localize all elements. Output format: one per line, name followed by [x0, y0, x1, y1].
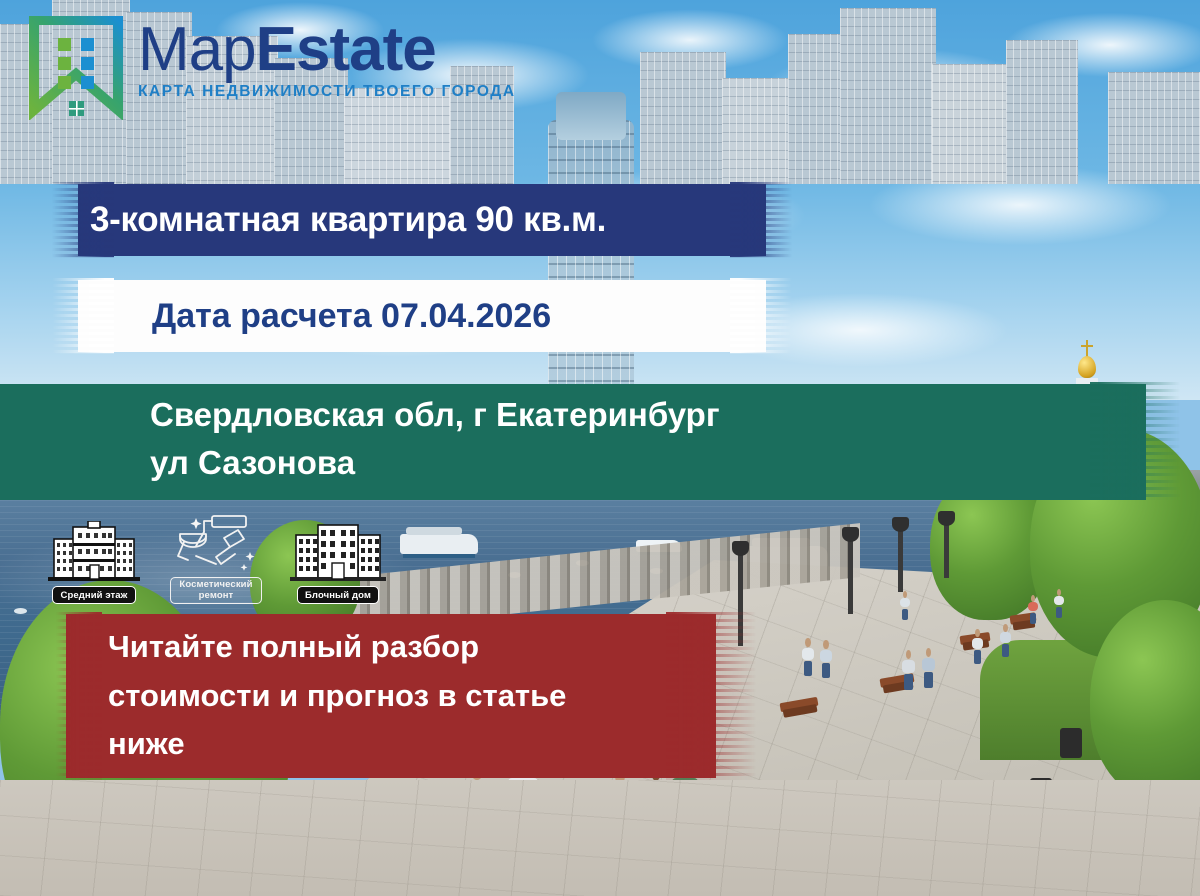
lamp-post [848, 540, 853, 614]
badge-renovation-label: Косметический ремонт [170, 577, 261, 604]
pedestrian [802, 648, 814, 676]
cta-text: Читайте полный разбор стоимости и прогно… [56, 623, 566, 770]
cta-line-2: стоимости и прогноз в статье [108, 672, 566, 721]
lamp-post [898, 530, 903, 592]
brand-logo[interactable]: MapEstate КАРТА НЕДВИЖИМОСТИ ТВОЕГО ГОРО… [28, 16, 516, 120]
promo-card: MapEstate КАРТА НЕДВИЖИМОСТИ ТВОЕГО ГОРО… [0, 0, 1200, 896]
brand-tagline: КАРТА НЕДВИЖИМОСТИ ТВОЕГО ГОРОДА [138, 83, 516, 101]
brand-name-part2: Estate [256, 15, 436, 84]
pedestrian [1054, 596, 1064, 618]
tower-cap [556, 92, 626, 140]
panel-building-icon [288, 521, 388, 583]
title-banner: 3-комнатная квартира 90 кв.м. [52, 168, 792, 272]
brand-name: MapEstate [138, 20, 516, 81]
pedestrian [900, 598, 910, 620]
date-banner: Дата расчета 07.04.2026 [52, 272, 792, 360]
lamp-post [944, 524, 949, 578]
badge-house-type-label: Блочный дом [297, 586, 379, 604]
river-boat [400, 534, 478, 554]
badge-house-type[interactable]: Блочный дом [288, 521, 388, 604]
trash-bin [1060, 728, 1082, 758]
pedestrian [1000, 632, 1011, 657]
badge-renovation[interactable]: Косметический ремонт [166, 512, 266, 604]
brand-name-part1: Map [138, 15, 256, 84]
badge-renovation-label-line1: Косметический [179, 579, 252, 590]
paint-roller-brush-bucket-icon [166, 512, 266, 574]
badge-renovation-label-line2: ремонт [199, 590, 234, 601]
pedestrian [820, 650, 832, 678]
pedestrian [1028, 602, 1038, 624]
small-boat [14, 608, 27, 614]
pedestrian [902, 660, 915, 690]
bookmark-building-house-icon [28, 16, 124, 120]
address-banner: Свердловская обл, г Екатеринбург ул Сазо… [0, 378, 1180, 500]
property-title: 3-комнатная квартира 90 кв.м. [52, 200, 606, 240]
badge-floor-label: Средний этаж [52, 586, 135, 604]
pedestrian [972, 638, 983, 664]
calculation-date: Дата расчета 07.04.2026 [52, 297, 551, 336]
apartment-building-icon [44, 521, 144, 583]
cta-line-1: Читайте полный разбор [108, 623, 566, 672]
badge-floor[interactable]: Средний этаж [44, 521, 144, 604]
cta-line-3: ниже [108, 720, 566, 769]
plaza-pavement [0, 780, 1200, 896]
property-address: Свердловская обл, г Екатеринбург ул Сазо… [0, 391, 720, 487]
cta-banner[interactable]: Читайте полный разбор стоимости и прогно… [56, 608, 756, 784]
address-line-1: Свердловская обл, г Екатеринбург [150, 391, 720, 439]
address-line-2: ул Сазонова [150, 439, 720, 487]
feature-badges: Средний этаж [44, 512, 388, 604]
pedestrian [922, 658, 935, 688]
